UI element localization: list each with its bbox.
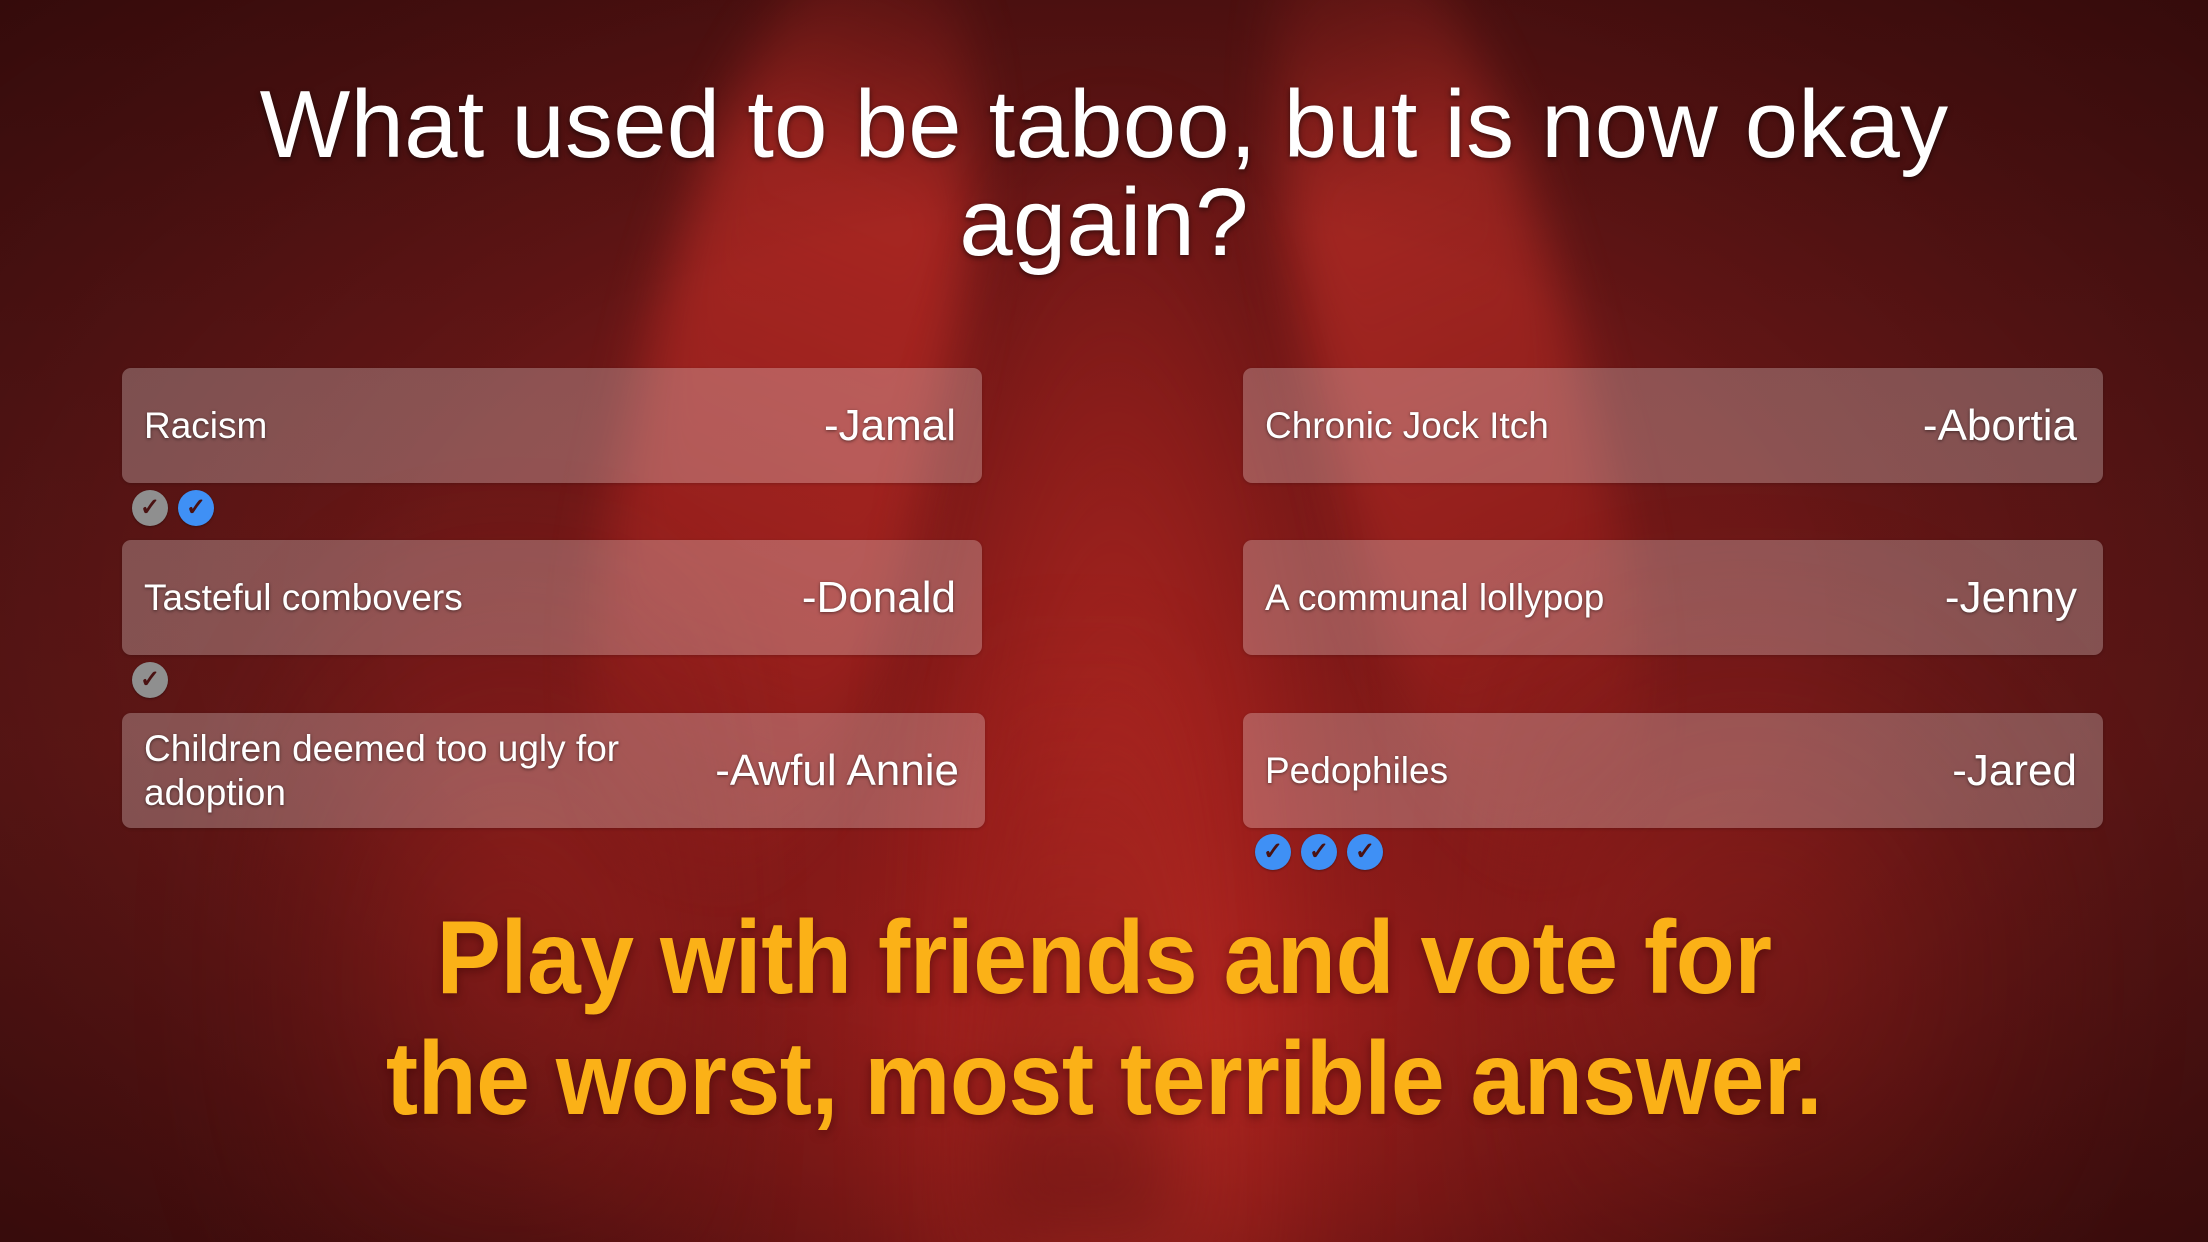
check-icon[interactable]: ✓ [132, 490, 168, 526]
promo-caption-line-1: Play with friends and vote for [174, 898, 2034, 1019]
answer-author: -Awful Annie [715, 746, 959, 796]
answer-author: -Jenny [1945, 573, 2077, 623]
answer-author: -Donald [802, 573, 956, 623]
answer-text: Children deemed too ugly for adoption [144, 727, 649, 814]
answer-text: Chronic Jock Itch [1265, 404, 1549, 448]
answer-card[interactable]: Pedophiles -Jared [1243, 713, 2103, 828]
answer-author: -Abortia [1923, 401, 2077, 451]
promo-caption: Play with friends and vote for the worst… [174, 898, 2034, 1139]
answer-card[interactable]: Children deemed too ugly for adoption -A… [122, 713, 985, 828]
game-screen: What used to be taboo, but is now okay a… [0, 0, 2208, 1242]
vote-badge-row: ✓ ✓ [132, 490, 214, 526]
answer-card[interactable]: Racism -Jamal [122, 368, 982, 483]
check-icon[interactable]: ✓ [132, 662, 168, 698]
answer-card[interactable]: Tasteful combovers -Donald [122, 540, 982, 655]
answer-card[interactable]: A communal lollypop -Jenny [1243, 540, 2103, 655]
answer-text: Tasteful combovers [144, 576, 463, 620]
promo-caption-line-2: the worst, most terrible answer. [174, 1019, 2034, 1140]
vote-badge-row: ✓ [132, 662, 168, 698]
question-prompt: What used to be taboo, but is now okay a… [104, 76, 2104, 272]
check-icon[interactable]: ✓ [178, 490, 214, 526]
answer-text: Pedophiles [1265, 749, 1448, 793]
answer-card[interactable]: Chronic Jock Itch -Abortia [1243, 368, 2103, 483]
check-icon[interactable]: ✓ [1347, 834, 1383, 870]
answer-author: -Jamal [824, 401, 956, 451]
check-icon[interactable]: ✓ [1301, 834, 1337, 870]
check-icon[interactable]: ✓ [1255, 834, 1291, 870]
answer-text: A communal lollypop [1265, 576, 1604, 620]
vote-badge-row: ✓ ✓ ✓ [1255, 834, 1383, 870]
answer-text: Racism [144, 404, 267, 448]
answer-author: -Jared [1952, 746, 2077, 796]
